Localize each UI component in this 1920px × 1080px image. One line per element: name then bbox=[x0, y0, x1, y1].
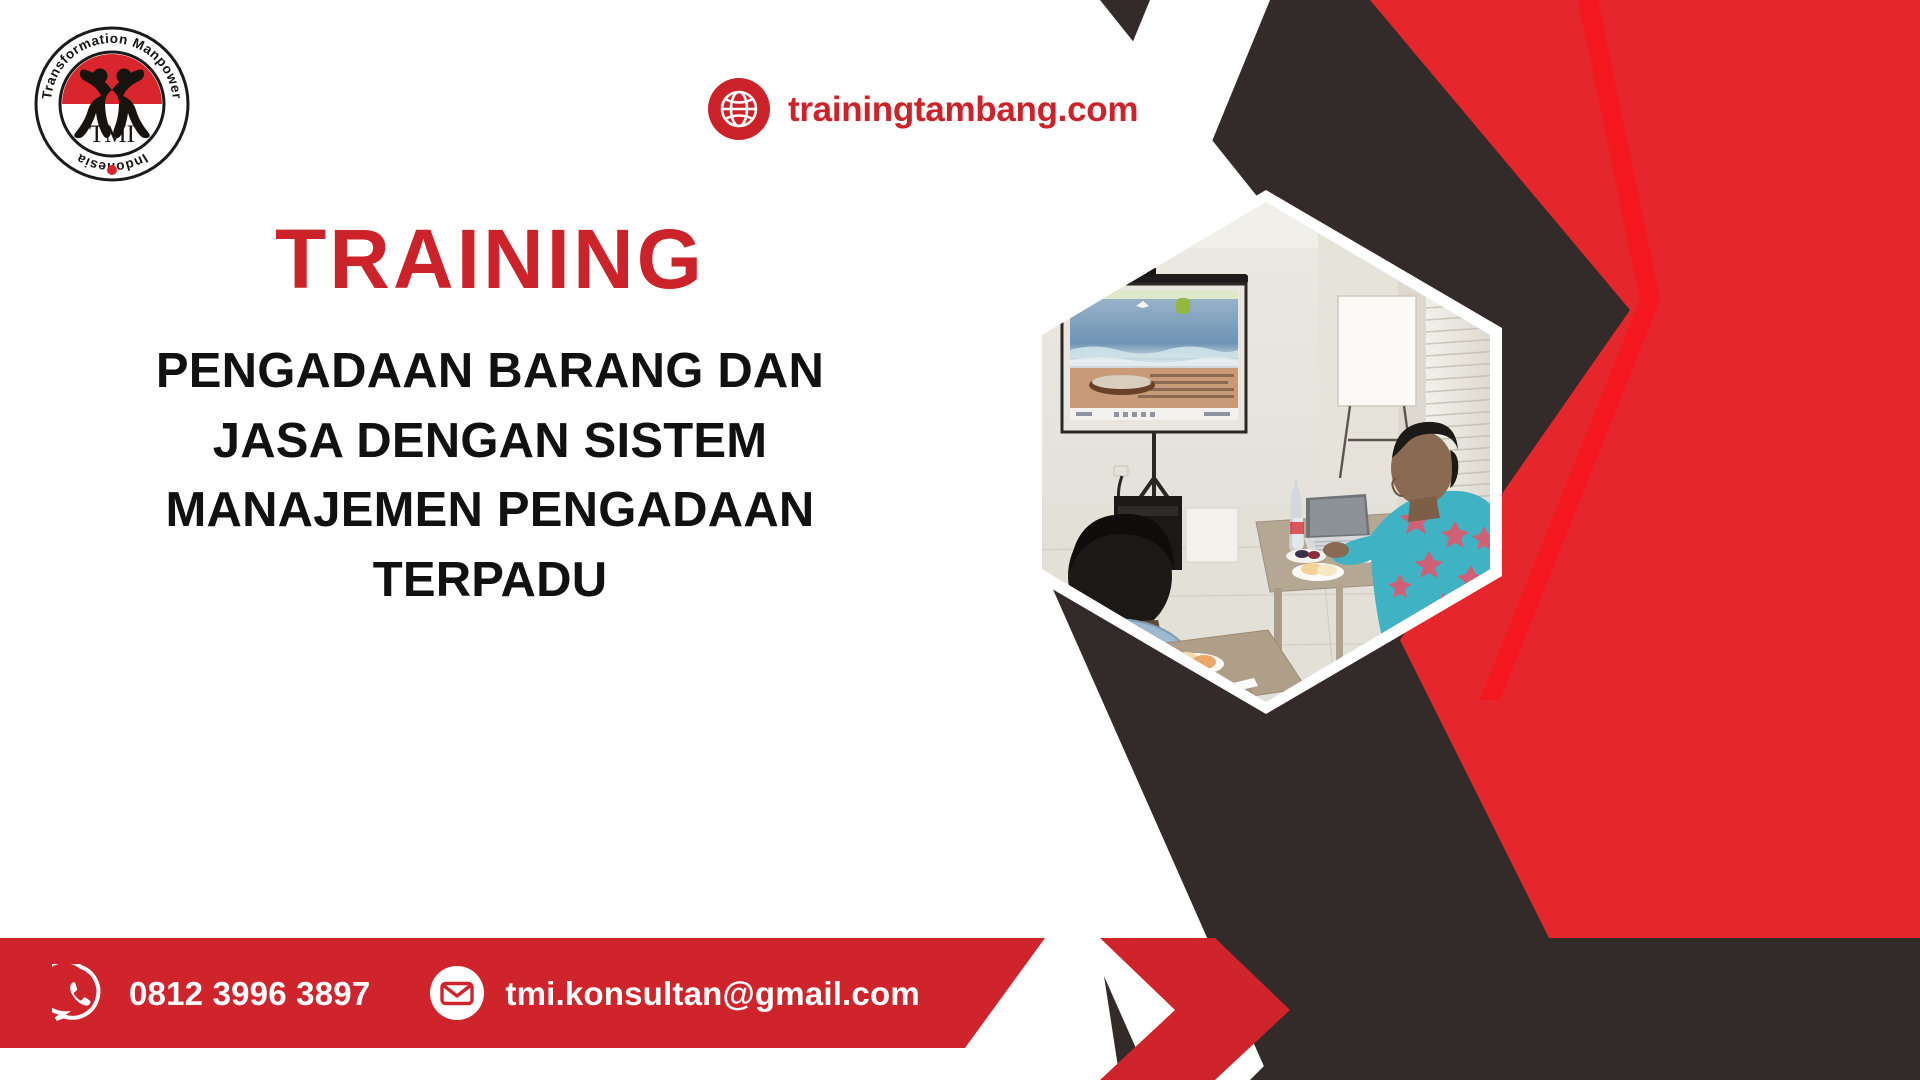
promotional-banner: TMI Transformation Manpower Indonesia tr… bbox=[0, 0, 1920, 1080]
website-row[interactable]: trainingtambang.com bbox=[708, 78, 1138, 140]
course-title-line-2: JASA DENGAN SISTEM bbox=[40, 407, 940, 477]
phone-number[interactable]: 0812 3996 3897 bbox=[129, 977, 370, 1010]
whatsapp-icon bbox=[52, 964, 110, 1022]
headline-block: TRAINING PENGADAAN BARANG DAN JASA DENGA… bbox=[40, 215, 940, 616]
contact-phone[interactable]: 0812 3996 3897 bbox=[52, 964, 370, 1022]
envelope-icon bbox=[428, 964, 486, 1022]
contact-email[interactable]: tmi.konsultan@gmail.com bbox=[428, 964, 920, 1022]
course-title-line-1: PENGADAAN BARANG DAN bbox=[40, 337, 940, 407]
website-url[interactable]: trainingtambang.com bbox=[788, 92, 1138, 127]
email-address[interactable]: tmi.konsultan@gmail.com bbox=[505, 977, 920, 1010]
photo-content bbox=[1018, 178, 1514, 726]
course-title-line-3: MANAJEMEN PENGADAAN bbox=[40, 476, 940, 546]
training-photo-frame bbox=[1018, 178, 1514, 726]
globe-icon bbox=[708, 78, 770, 140]
training-eyebrow: TRAINING bbox=[40, 215, 940, 303]
course-title: PENGADAAN BARANG DAN JASA DENGAN SISTEM … bbox=[40, 337, 940, 615]
tmi-logo: TMI Transformation Manpower Indonesia bbox=[28, 20, 196, 188]
logo-dot bbox=[107, 165, 117, 175]
course-title-line-4: TERPADU bbox=[40, 546, 940, 616]
dark-block-bottom bbox=[1250, 938, 1920, 1080]
contact-bar: 0812 3996 3897 tmi.konsultan@gmail.com bbox=[0, 938, 1045, 1048]
logo-initials: TMI bbox=[89, 121, 135, 148]
